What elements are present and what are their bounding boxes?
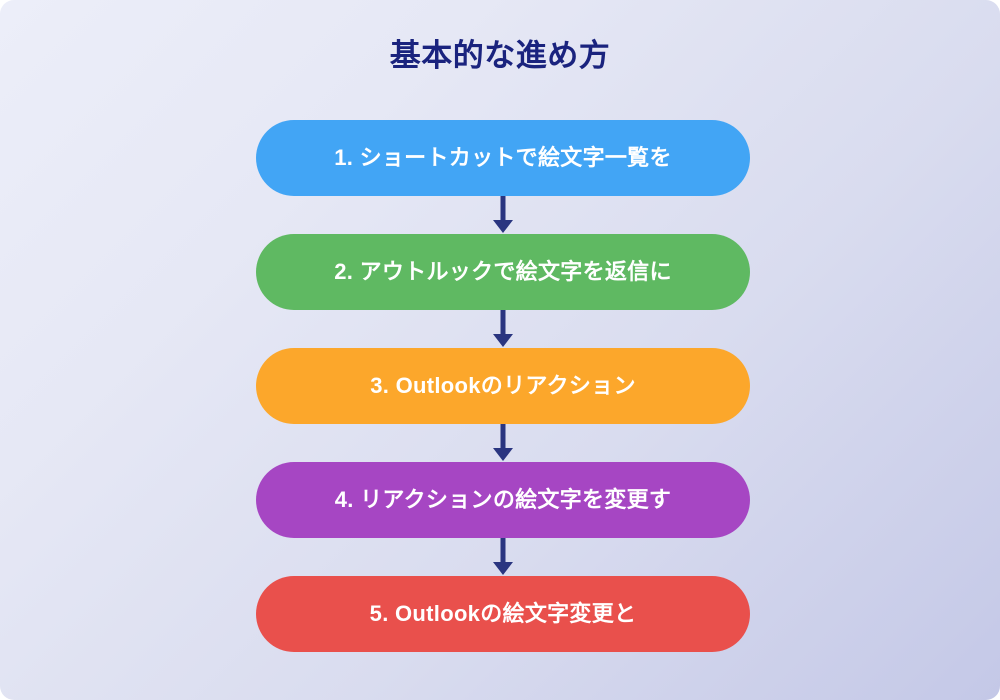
- flowchart-canvas: 基本的な進め方 1. ショートカットで絵文字一覧を 2. アウトルックで絵文字を…: [0, 0, 1000, 700]
- down-arrow-icon: [493, 310, 513, 347]
- flow-step-2: 2. アウトルックで絵文字を返信に: [256, 234, 750, 310]
- flow-step-4: 4. リアクションの絵文字を変更す: [256, 462, 750, 538]
- down-arrow-icon: [493, 196, 513, 233]
- flow-step-5: 5. Outlookの絵文字変更と: [256, 576, 750, 652]
- connector-3-to-4: [256, 424, 750, 462]
- step-box-2[interactable]: 2. アウトルックで絵文字を返信に: [256, 234, 750, 310]
- connector-4-to-5: [256, 538, 750, 576]
- down-arrow-icon: [493, 424, 513, 461]
- step-label-5: 5. Outlookの絵文字変更と: [370, 603, 637, 625]
- step-box-5[interactable]: 5. Outlookの絵文字変更と: [256, 576, 750, 652]
- step-label-2: 2. アウトルックで絵文字を返信に: [334, 261, 672, 283]
- step-box-3[interactable]: 3. Outlookのリアクション: [256, 348, 750, 424]
- flow-step-1: 1. ショートカットで絵文字一覧を: [256, 120, 750, 196]
- page-title: 基本的な進め方: [0, 30, 1000, 75]
- step-box-4[interactable]: 4. リアクションの絵文字を変更す: [256, 462, 750, 538]
- step-label-1: 1. ショートカットで絵文字一覧を: [334, 147, 672, 169]
- connector-1-to-2: [256, 196, 750, 234]
- down-arrow-icon: [493, 538, 513, 575]
- step-box-1[interactable]: 1. ショートカットで絵文字一覧を: [256, 120, 750, 196]
- step-label-4: 4. リアクションの絵文字を変更す: [335, 489, 671, 511]
- flowchart-steps: 1. ショートカットで絵文字一覧を 2. アウトルックで絵文字を返信に: [256, 120, 750, 652]
- step-label-3: 3. Outlookのリアクション: [370, 375, 636, 397]
- flow-step-3: 3. Outlookのリアクション: [256, 348, 750, 424]
- connector-2-to-3: [256, 310, 750, 348]
